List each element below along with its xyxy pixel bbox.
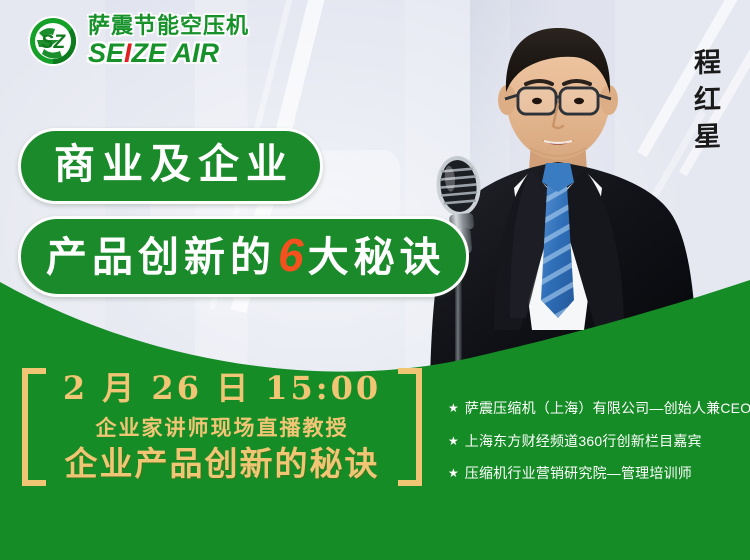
headline-line-1: 商业及企业 [18,128,323,204]
headline-group: 商业及企业 产品创新的6大秘诀 [18,128,750,297]
star-icon: ★ [448,398,459,419]
event-text-lines: 2 月 26 日 15:00 企业家讲师现场直播教授 企业产品创新的秘诀 [56,368,388,483]
brand-name-cn: 萨震节能空压机 [88,15,249,37]
credential-text: 上海东方财经频道360行创新栏目嘉宾 [465,431,702,453]
svg-text:SZ: SZ [41,32,67,53]
event-topic: 企业产品创新的秘诀 [56,445,388,483]
event-subtitle: 企业家讲师现场直播教授 [56,414,388,441]
brand-name-en: SEIZE AIR [88,40,249,67]
event-date: 2 月 26 日 15:00 [56,370,388,407]
credential-item: ★ 压缩机行业营销研究院—管理培训师 [448,463,740,485]
headline-line-2-after: 大秘诀 [308,234,446,280]
bracket-left-decoration [22,368,46,486]
credential-item: ★ 上海东方财经频道360行创新栏目嘉宾 [448,431,740,453]
headline-line-2: 产品创新的6大秘诀 [18,216,469,297]
promo-banner: SZ 萨震节能空压机 SEIZE AIR 程红星 商业及企业 产品创新的6大秘诀… [0,0,750,560]
brand-logo[interactable]: SZ 萨震节能空压机 SEIZE AIR [26,14,249,68]
brand-logo-text: 萨震节能空压机 SEIZE AIR [88,15,249,67]
brand-name-en-accent-letter: I [124,38,132,68]
credential-item: ★ 萨震压缩机（上海）有限公司—创始人兼CEO [448,398,740,420]
credential-text: 萨震压缩机（上海）有限公司—创始人兼CEO [465,398,750,420]
headline-line-2-before: 产品创新的 [46,234,276,280]
speaker-credentials-list: ★ 萨震压缩机（上海）有限公司—创始人兼CEO ★ 上海东方财经频道360行创新… [448,398,740,496]
event-details-block: 2 月 26 日 15:00 企业家讲师现场直播教授 企业产品创新的秘诀 [22,368,422,488]
seize-air-logo-icon: SZ [26,14,80,68]
brand-name-en-post: ZE AIR [132,38,220,68]
star-icon: ★ [448,431,459,452]
brand-name-en-pre: SE [88,38,124,68]
bracket-right-decoration [398,368,422,486]
headline-number: 6 [276,229,308,281]
star-icon: ★ [448,463,459,484]
credential-text: 压缩机行业营销研究院—管理培训师 [465,463,692,485]
